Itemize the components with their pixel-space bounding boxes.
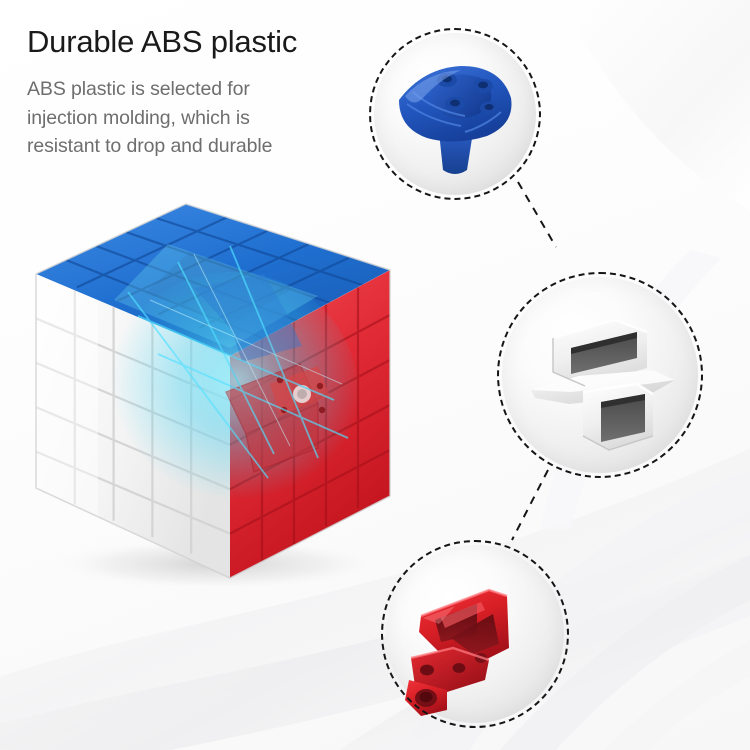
page-title: Durable ABS plastic (27, 22, 377, 62)
description-line-3: resistant to drop and durable (27, 132, 377, 161)
callout-core-piece (369, 28, 541, 200)
feature-description: ABS plastic is selected for injection mo… (27, 75, 377, 161)
callout-corner-dashed-ring (381, 540, 569, 728)
callout-edge-dashed-ring (497, 272, 703, 478)
product-feature-banner: Durable ABS plastic ABS plastic is selec… (0, 0, 750, 750)
callout-edge-piece (497, 272, 703, 478)
description-line-2: injection molding, which is (27, 104, 377, 133)
callout-corner-piece (381, 540, 569, 728)
feature-text-block: Durable ABS plastic ABS plastic is selec… (27, 22, 377, 161)
callout-core-dashed-ring (369, 28, 541, 200)
description-line-1: ABS plastic is selected for (27, 75, 377, 104)
product-image-cube (18, 196, 408, 586)
